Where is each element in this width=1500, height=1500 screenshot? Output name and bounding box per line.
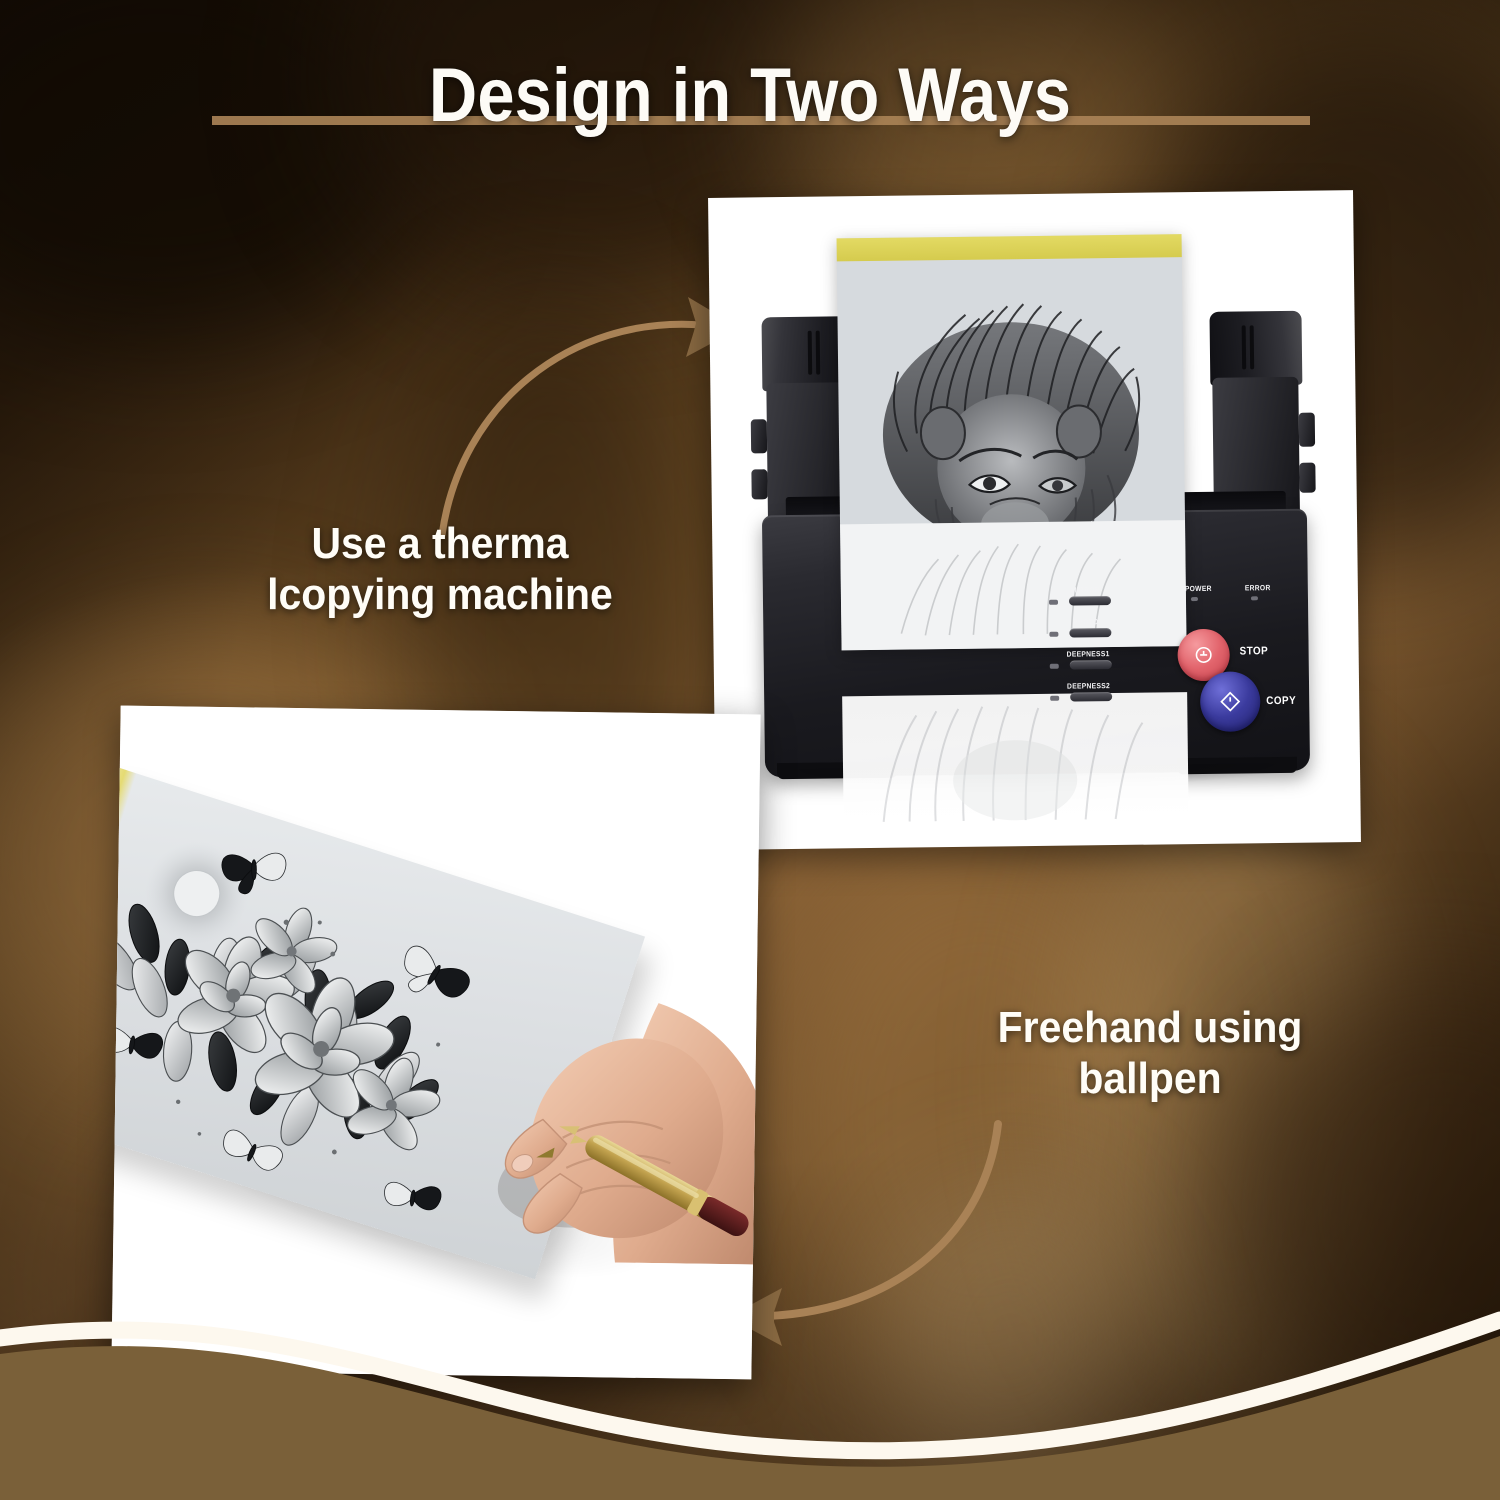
bottom-wave-decoration bbox=[0, 1310, 1500, 1500]
mirror-button[interactable] bbox=[1069, 596, 1111, 606]
caption-thermal-line1: Use a therma bbox=[208, 518, 673, 569]
caption-freehand-line2: ballpen bbox=[945, 1053, 1354, 1104]
deepness1-led bbox=[1050, 664, 1059, 669]
copier-right-tower bbox=[1209, 311, 1302, 386]
copier-left-knob bbox=[751, 419, 767, 453]
copy-button-label: COPY bbox=[1266, 695, 1296, 707]
caption-thermal-line2: lcopying machine bbox=[208, 569, 673, 620]
mirror-label: MIRROR bbox=[1071, 585, 1100, 594]
deepness1-label: DEEPNESS1 bbox=[1067, 649, 1110, 659]
deepness2-label: DEEPNESS2 bbox=[1067, 681, 1110, 691]
thermal-copier-photo: MIRROR PHOTO DEEPNESS1 DEEPNESS2 POWER E… bbox=[708, 190, 1361, 850]
copy-icon bbox=[1200, 671, 1261, 732]
power-led bbox=[1191, 597, 1198, 601]
caption-freehand-line1: Freehand using bbox=[945, 1002, 1354, 1053]
hand-with-pen bbox=[465, 960, 761, 1264]
deepness2-button[interactable] bbox=[1070, 692, 1112, 702]
photo-led bbox=[1049, 632, 1058, 637]
freehand-drawing-photo bbox=[111, 706, 760, 1380]
page-title: Design in Two Ways bbox=[90, 52, 1410, 139]
freehand-scene bbox=[111, 706, 760, 1380]
copier-right-knob bbox=[1299, 413, 1315, 447]
error-led bbox=[1251, 596, 1258, 600]
thermal-copier-machine: MIRROR PHOTO DEEPNESS1 DEEPNESS2 POWER E… bbox=[708, 190, 1361, 850]
deepness2-led bbox=[1050, 696, 1059, 701]
mirror-led bbox=[1049, 600, 1058, 605]
copier-control-panel: MIRROR PHOTO DEEPNESS1 DEEPNESS2 POWER E… bbox=[1049, 583, 1303, 721]
stop-button-label: STOP bbox=[1240, 645, 1269, 657]
error-label: ERROR bbox=[1245, 583, 1271, 592]
deepness1-button[interactable] bbox=[1070, 660, 1112, 670]
caption-thermal: Use a therma lcopying machine bbox=[208, 518, 673, 620]
copier-right-clip bbox=[1299, 463, 1315, 493]
caption-freehand: Freehand using ballpen bbox=[945, 1002, 1354, 1104]
power-label: POWER bbox=[1185, 584, 1212, 593]
poster-canvas: Design in Two Ways bbox=[0, 0, 1500, 1500]
copy-button[interactable] bbox=[1200, 671, 1261, 732]
photo-button[interactable] bbox=[1069, 628, 1111, 638]
copier-left-clip bbox=[751, 469, 767, 499]
photo-label: PHOTO bbox=[1073, 617, 1098, 626]
